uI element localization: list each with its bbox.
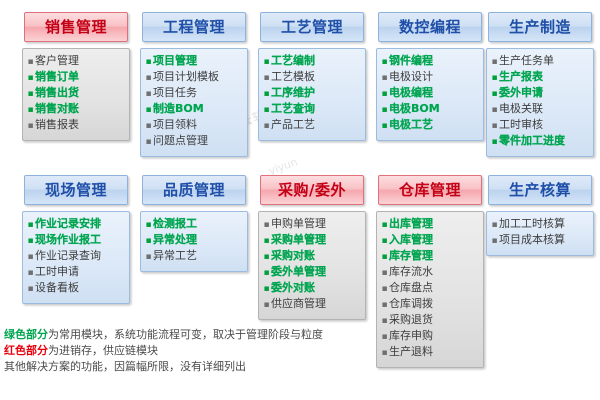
bullet-icon: ▪ [490,87,499,101]
list-item-label: 采购对账 [271,249,315,263]
list-item-label: 检测报工 [153,217,197,231]
list-item-label: 电极工艺 [389,118,433,132]
list-item[interactable]: ▪产品工艺 [262,118,362,133]
bullet-icon: ▪ [262,218,271,232]
bullet-icon: ▪ [262,119,271,133]
list-item[interactable]: ▪项目任务 [144,86,244,101]
list-item[interactable]: ▪作业记录查询 [26,249,126,264]
module-map-canvas: 五易云软件 yiyun 销售管理 ▪客户管理 ▪销售订单 ▪销售出货 ▪销售对账… [0,0,600,400]
list-item-label: 库存流水 [389,265,433,279]
module-column-costing: 生产核算 ▪加工工时核算 ▪项目成本核算 [480,175,600,256]
list-item-label: 作业记录查询 [35,249,101,263]
list-item[interactable]: ▪入库管理 [380,233,480,248]
list-item[interactable]: ▪检测报工 [144,217,244,232]
legend-line-red: 红色部分为进销存，供应链模块 [4,343,424,359]
list-item-label: 销售对账 [35,102,79,116]
bullet-icon: ▪ [262,71,271,85]
bullet-icon: ▪ [262,87,271,101]
list-item-label: 项目计划模板 [153,70,219,84]
module-list-manufacturing: ▪生产任务单 ▪生产报表 ▪委外申请 ▪电极关联 ▪工时审核 ▪零件加工进度 [486,48,594,157]
list-item[interactable]: ▪生产报表 [490,70,590,85]
list-item[interactable]: ▪项目计划模板 [144,70,244,85]
module-column-process: 工艺管理 ▪工艺编制 ▪工艺模板 ▪工序维护 ▪工艺查询 ▪产品工艺 [252,12,372,141]
list-item[interactable]: ▪出库管理 [380,217,480,232]
list-item-label: 采购退货 [389,313,433,327]
list-item-label: 制造BOM [153,102,204,116]
module-list-purchasing: ▪申购单管理 ▪采购单管理 ▪采购对账 ▪委外单管理 ▪委外对账 ▪供应商管理 [258,211,366,320]
module-header-sales[interactable]: 销售管理 [24,12,128,42]
list-item-label: 电极编程 [389,86,433,100]
list-item[interactable]: ▪项目管理 [144,54,244,69]
list-item[interactable]: ▪电极关联 [490,102,590,117]
legend: 绿色部分为常用模块，系统功能流程可变，取决于管理阶段与粒度 红色部分为进销存，供… [4,327,424,375]
list-item[interactable]: ▪异常工艺 [144,249,244,264]
list-item-label: 销售出货 [35,86,79,100]
bullet-icon: ▪ [144,218,153,232]
list-item-label: 问题点管理 [153,134,208,148]
bullet-icon: ▪ [144,87,153,101]
bullet-icon: ▪ [380,314,389,328]
module-column-engineering: 工程管理 ▪项目管理 ▪项目计划模板 ▪项目任务 ▪制造BOM ▪项目领料 ▪问… [134,12,254,157]
list-item[interactable]: ▪销售订单 [26,70,126,85]
bullet-icon: ▪ [144,103,153,117]
module-list-quality: ▪检测报工 ▪异常处理 ▪异常工艺 [140,211,248,272]
list-item-label: 零件加工进度 [499,134,565,148]
module-header-manufacturing[interactable]: 生产制造 [488,12,592,42]
bullet-icon: ▪ [26,87,35,101]
bullet-icon: ▪ [26,234,35,248]
list-item-label: 仓库盘点 [389,281,433,295]
bullet-icon: ▪ [380,119,389,133]
legend-line-green: 绿色部分为常用模块，系统功能流程可变，取决于管理阶段与粒度 [4,327,424,343]
bullet-icon: ▪ [262,234,271,248]
list-item[interactable]: ▪销售报表 [26,118,126,133]
module-header-engineering[interactable]: 工程管理 [142,12,246,42]
list-item[interactable]: ▪采购单管理 [262,233,362,248]
list-item-label: 委外申请 [499,86,543,100]
module-list-sales: ▪客户管理 ▪销售订单 ▪销售出货 ▪销售对账 ▪销售报表 [22,48,130,141]
list-item-label: 工艺编制 [271,54,315,68]
bullet-icon: ▪ [26,218,35,232]
list-item[interactable]: ▪库存流水 [380,265,480,280]
list-item[interactable]: ▪项目领料 [144,118,244,133]
list-item[interactable]: ▪库存管理 [380,249,480,264]
module-header-quality[interactable]: 品质管理 [142,175,246,205]
bullet-icon: ▪ [490,135,499,149]
bullet-icon: ▪ [490,55,499,69]
list-item-label: 异常工艺 [153,249,197,263]
bullet-icon: ▪ [26,119,35,133]
module-column-quality: 品质管理 ▪检测报工 ▪异常处理 ▪异常工艺 [134,175,254,272]
bullet-icon: ▪ [144,71,153,85]
list-item-label: 委外单管理 [271,265,326,279]
module-header-warehouse[interactable]: 仓库管理 [378,175,482,205]
list-item-label: 委外对账 [271,281,315,295]
list-item[interactable]: ▪采购退货 [380,313,480,328]
list-item-label: 仓库调拨 [389,297,433,311]
list-item-label: 销售报表 [35,118,79,132]
list-item[interactable]: ▪设备看板 [26,281,126,296]
list-item-label: 申购单管理 [271,217,326,231]
module-column-shopfloor: 现场管理 ▪作业记录安排 ▪现场作业报工 ▪作业记录查询 ▪工时申请 ▪设备看板 [16,175,136,304]
bullet-icon: ▪ [380,298,389,312]
list-item-label: 异常处理 [153,233,197,247]
list-item[interactable]: ▪工艺编制 [262,54,362,69]
list-item-label: 工时审核 [499,118,543,132]
bullet-icon: ▪ [380,87,389,101]
list-item[interactable]: ▪生产任务单 [490,54,590,69]
bullet-icon: ▪ [262,266,271,280]
list-item-label: 工序维护 [271,86,315,100]
module-list-shopfloor: ▪作业记录安排 ▪现场作业报工 ▪作业记录查询 ▪工时申请 ▪设备看板 [22,211,130,304]
list-item[interactable]: ▪仓库盘点 [380,281,480,296]
bullet-icon: ▪ [380,282,389,296]
list-item-label: 作业记录安排 [35,217,101,231]
list-item[interactable]: ▪电极设计 [380,70,480,85]
bullet-icon: ▪ [262,55,271,69]
list-item[interactable]: ▪工时申请 [26,265,126,280]
list-item-label: 生产报表 [499,70,543,84]
list-item[interactable]: ▪采购对账 [262,249,362,264]
bullet-icon: ▪ [144,250,153,264]
list-item-label: 项目管理 [153,54,197,68]
list-item[interactable]: ▪工艺查询 [262,102,362,117]
module-column-sales: 销售管理 ▪客户管理 ▪销售订单 ▪销售出货 ▪销售对账 ▪销售报表 [16,12,136,141]
bullet-icon: ▪ [144,55,153,69]
list-item-label: 项目领料 [153,118,197,132]
list-item[interactable]: ▪委外对账 [262,281,362,296]
module-header-purchasing[interactable]: 采购/委外 [260,175,364,205]
bullet-icon: ▪ [380,55,389,69]
module-header-process[interactable]: 工艺管理 [260,12,364,42]
list-item[interactable]: ▪钢件编程 [380,54,480,69]
list-item-label: 加工工时核算 [499,217,565,231]
list-item-label: 工艺模板 [271,70,315,84]
bullet-icon: ▪ [262,103,271,117]
legend-red-key: 红色部分 [4,344,48,357]
list-item-label: 工时申请 [35,265,79,279]
module-column-manufacturing: 生产制造 ▪生产任务单 ▪生产报表 ▪委外申请 ▪电极关联 ▪工时审核 ▪零件加… [480,12,600,157]
legend-green-key: 绿色部分 [4,328,48,341]
list-item-label: 供应商管理 [271,297,326,311]
bullet-icon: ▪ [490,234,499,248]
list-item[interactable]: ▪电极工艺 [380,118,480,133]
bullet-icon: ▪ [490,103,499,117]
list-item[interactable]: ▪异常处理 [144,233,244,248]
list-item[interactable]: ▪客户管理 [26,54,126,69]
legend-red-text: 为进销存，供应链模块 [48,344,158,357]
bullet-icon: ▪ [380,266,389,280]
list-item-label: 采购单管理 [271,233,326,247]
list-item[interactable]: ▪委外申请 [490,86,590,101]
list-item[interactable]: ▪项目成本核算 [490,233,590,248]
list-item[interactable]: ▪工序维护 [262,86,362,101]
bullet-icon: ▪ [380,218,389,232]
list-item[interactable]: ▪委外单管理 [262,265,362,280]
module-column-purchasing: 采购/委外 ▪申购单管理 ▪采购单管理 ▪采购对账 ▪委外单管理 ▪委外对账 ▪… [252,175,372,320]
list-item[interactable]: ▪加工工时核算 [490,217,590,232]
list-item[interactable]: ▪现场作业报工 [26,233,126,248]
list-item-label: 电极设计 [389,70,433,84]
list-item-label: 客户管理 [35,54,79,68]
list-item-label: 现场作业报工 [35,233,101,247]
module-list-cnc: ▪钢件编程 ▪电极设计 ▪电极编程 ▪电极BOM ▪电极工艺 [376,48,484,141]
list-item[interactable]: ▪销售出货 [26,86,126,101]
bullet-icon: ▪ [490,71,499,85]
legend-green-text: 为常用模块，系统功能流程可变，取决于管理阶段与粒度 [48,328,323,341]
list-item-label: 项目任务 [153,86,197,100]
list-item-label: 项目成本核算 [499,233,565,247]
list-item[interactable]: ▪申购单管理 [262,217,362,232]
list-item-label: 库存管理 [389,249,433,263]
bullet-icon: ▪ [26,282,35,296]
list-item-label: 入库管理 [389,233,433,247]
bullet-icon: ▪ [380,103,389,117]
list-item[interactable]: ▪作业记录安排 [26,217,126,232]
list-item-label: 生产任务单 [499,54,554,68]
bullet-icon: ▪ [262,282,271,296]
list-item[interactable]: ▪零件加工进度 [490,134,590,149]
bullet-icon: ▪ [26,250,35,264]
bullet-icon: ▪ [26,71,35,85]
list-item[interactable]: ▪制造BOM [144,102,244,117]
bullet-icon: ▪ [380,234,389,248]
list-item[interactable]: ▪电极编程 [380,86,480,101]
bullet-icon: ▪ [490,218,499,232]
list-item-label: 销售订单 [35,70,79,84]
bullet-icon: ▪ [26,103,35,117]
module-column-cnc: 数控编程 ▪钢件编程 ▪电极设计 ▪电极编程 ▪电极BOM ▪电极工艺 [370,12,490,141]
bullet-icon: ▪ [144,119,153,133]
bullet-icon: ▪ [144,135,153,149]
bullet-icon: ▪ [490,119,499,133]
list-item-label: 工艺查询 [271,102,315,116]
bullet-icon: ▪ [380,71,389,85]
list-item-label: 钢件编程 [389,54,433,68]
module-header-cnc[interactable]: 数控编程 [378,12,482,42]
module-list-costing: ▪加工工时核算 ▪项目成本核算 [486,211,594,256]
list-item[interactable]: ▪问题点管理 [144,134,244,149]
list-item[interactable]: ▪工时审核 [490,118,590,133]
module-list-engineering: ▪项目管理 ▪项目计划模板 ▪项目任务 ▪制造BOM ▪项目领料 ▪问题点管理 [140,48,248,157]
module-list-process: ▪工艺编制 ▪工艺模板 ▪工序维护 ▪工艺查询 ▪产品工艺 [258,48,366,141]
list-item-label: 产品工艺 [271,118,315,132]
list-item-label: 电极BOM [389,102,440,116]
bullet-icon: ▪ [262,250,271,264]
module-header-shopfloor[interactable]: 现场管理 [24,175,128,205]
list-item[interactable]: ▪电极BOM [380,102,480,117]
bullet-icon: ▪ [26,55,35,69]
bullet-icon: ▪ [380,250,389,264]
list-item[interactable]: ▪销售对账 [26,102,126,117]
bullet-icon: ▪ [144,234,153,248]
bullet-icon: ▪ [262,298,271,312]
list-item[interactable]: ▪工艺模板 [262,70,362,85]
module-header-costing[interactable]: 生产核算 [488,175,592,205]
list-item-label: 出库管理 [389,217,433,231]
bullet-icon: ▪ [26,266,35,280]
list-item-label: 设备看板 [35,281,79,295]
list-item[interactable]: ▪供应商管理 [262,297,362,312]
legend-line-note: 其他解决方案的功能，因篇幅所限，没有详细列出 [4,359,424,375]
list-item[interactable]: ▪仓库调拨 [380,297,480,312]
list-item-label: 电极关联 [499,102,543,116]
